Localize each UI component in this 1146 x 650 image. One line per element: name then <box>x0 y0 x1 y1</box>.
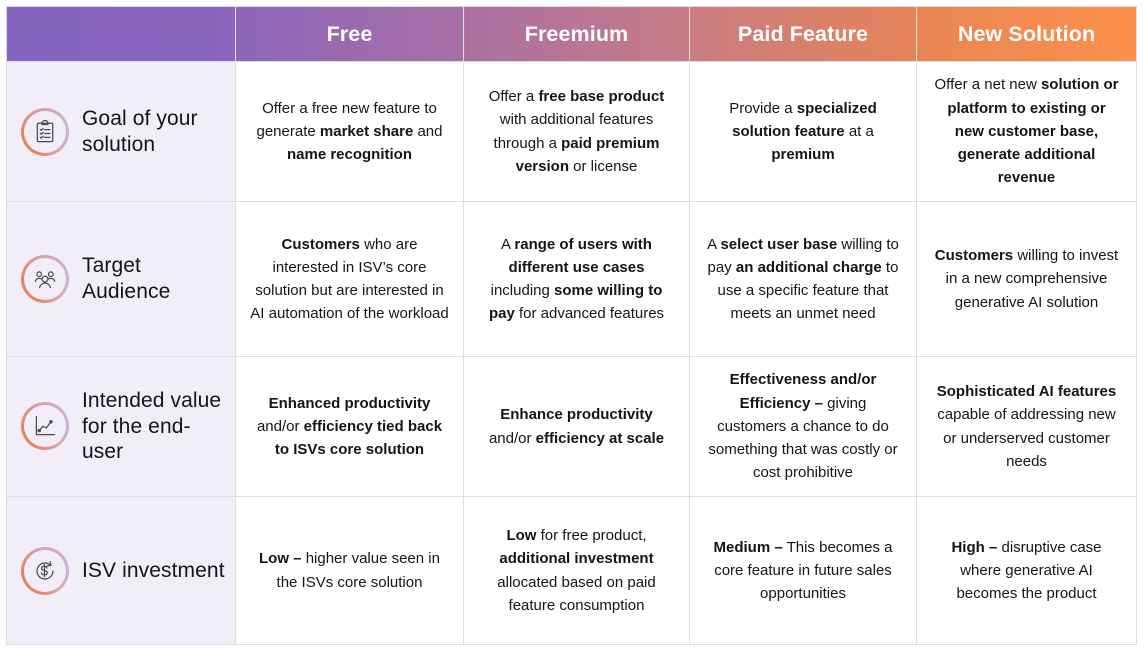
row-label-text: Intended value for the end-user <box>82 388 227 465</box>
cell-isv-free: Low – higher value seen in the ISVs core… <box>236 497 464 645</box>
table-row: Goal of your solution Offer a free new f… <box>7 62 1137 202</box>
column-header-paid-feature: Paid Feature <box>690 7 917 62</box>
cell-target-paid: A select user base willing to pay an add… <box>690 202 917 357</box>
cell-target-free: Customers who are interested in ISV’s co… <box>236 202 464 357</box>
column-header-free: Free <box>236 7 464 62</box>
header-row: Free Freemium Paid Feature New Solution <box>7 7 1137 62</box>
line-chart-icon <box>21 402 69 450</box>
dollar-refresh-icon <box>21 547 69 595</box>
people-group-icon <box>21 255 69 303</box>
row-label-text: Target Audience <box>82 253 227 304</box>
row-label-text: ISV investment <box>82 558 225 584</box>
cell-isv-new: High – disruptive case where generative … <box>917 497 1137 645</box>
cell-goal-freemium: Offer a free base product with additiona… <box>464 62 690 202</box>
table-row: Intended value for the end-user Enhanced… <box>7 357 1137 497</box>
table-header: Free Freemium Paid Feature New Solution <box>7 7 1137 62</box>
cell-target-new: Customers willing to invest in a new com… <box>917 202 1137 357</box>
cell-value-new: Sophisticated AI features capable of add… <box>917 357 1137 497</box>
table-row: ISV investment Low – higher value seen i… <box>7 497 1137 645</box>
column-header-new-solution: New Solution <box>917 7 1137 62</box>
column-header-freemium: Freemium <box>464 7 690 62</box>
cell-goal-new: Offer a net new solution or platform to … <box>917 62 1137 202</box>
cell-isv-freemium: Low for free product, additional investm… <box>464 497 690 645</box>
cell-value-paid: Effectiveness and/or Efficiency – giving… <box>690 357 917 497</box>
cell-target-freemium: A range of users with different use case… <box>464 202 690 357</box>
cell-goal-paid: Provide a specialized solution feature a… <box>690 62 917 202</box>
table-body: Goal of your solution Offer a free new f… <box>7 62 1137 645</box>
cell-isv-paid: Medium – This becomes a core feature in … <box>690 497 917 645</box>
cell-value-freemium: Enhance productivity and/or efficiency a… <box>464 357 690 497</box>
clipboard-checklist-icon <box>21 108 69 156</box>
comparison-matrix: Free Freemium Paid Feature New Solution <box>0 6 1146 650</box>
row-label-target-audience: Target Audience <box>7 202 236 357</box>
table-row: Target Audience Customers who are intere… <box>7 202 1137 357</box>
comparison-table: Free Freemium Paid Feature New Solution <box>6 6 1137 645</box>
row-label-isv-investment: ISV investment <box>7 497 236 645</box>
row-label-text: Goal of your solution <box>82 106 227 157</box>
row-label-intended-value: Intended value for the end-user <box>7 357 236 497</box>
cell-goal-free: Offer a free new feature to generate mar… <box>236 62 464 202</box>
cell-value-free: Enhanced productivity and/or efficiency … <box>236 357 464 497</box>
column-header-label <box>7 7 236 62</box>
row-label-goal-of-your-solution: Goal of your solution <box>7 62 236 202</box>
